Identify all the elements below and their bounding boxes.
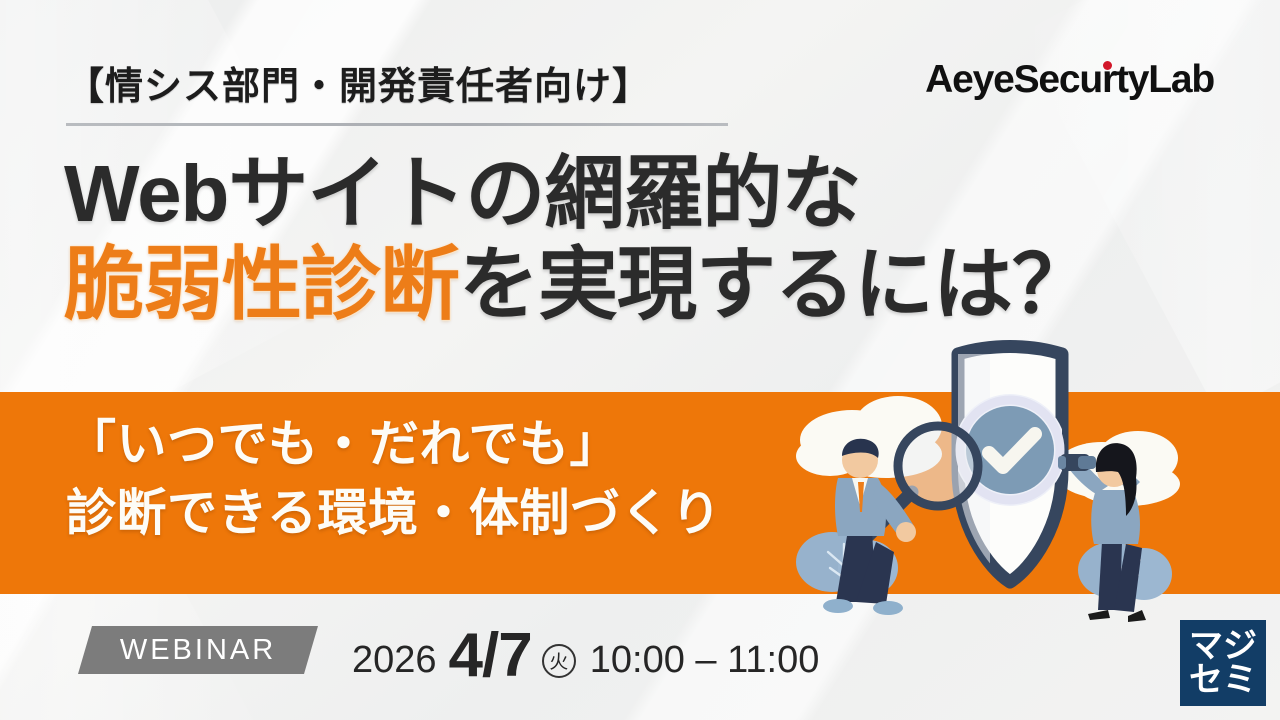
- event-year: 2026: [352, 639, 437, 682]
- aeye-security-lab-logo: AeyeSecurtyLab: [925, 58, 1214, 102]
- webinar-label: WEBINAR: [120, 634, 276, 667]
- status-badge: WEBINAR: [78, 626, 318, 674]
- majisemi-line-1: マジ: [1189, 629, 1257, 663]
- event-datetime: 2026 4/7 火 10:00 – 11:00: [352, 616, 819, 687]
- footer-bar: WEBINAR 2026 4/7 火 10:00 – 11:00: [0, 594, 1280, 720]
- majisemi-logo: マジ セミ: [1180, 620, 1266, 706]
- subtitle-line-1: 「いつでも・だれでも」: [66, 415, 722, 474]
- headline-line-1: Webサイトの網羅的な: [64, 152, 1091, 237]
- page-title: Webサイトの網羅的な 脆弱性診断を実現するには？: [64, 152, 1091, 328]
- headline-rest-text: を実現するには？: [459, 240, 1091, 329]
- event-time: 10:00 – 11:00: [590, 639, 820, 682]
- logo-text-part3: Lab: [1148, 58, 1214, 101]
- event-day: 4/7: [449, 620, 532, 691]
- logo-red-dot-icon: [1103, 61, 1112, 70]
- headline-accent-text: 脆弱性診断: [64, 240, 459, 329]
- logo-text-part1: AeyeSecur: [925, 58, 1116, 101]
- webinar-banner: 【情シス部門・開発責任者向け】 AeyeSecurtyLab Webサイトの網羅…: [0, 0, 1280, 720]
- security-shield-illustration: [790, 330, 1230, 630]
- audience-eyebrow: 【情シス部門・開発責任者向け】: [66, 55, 651, 110]
- logo-text-part2: ty: [1116, 58, 1148, 101]
- subtitle-text-group: 「いつでも・だれでも」 診断できる環境・体制づくり: [66, 415, 722, 543]
- eyebrow-divider: [66, 123, 728, 126]
- majisemi-line-2: セミ: [1189, 663, 1257, 697]
- subtitle-line-2: 診断できる環境・体制づくり: [66, 484, 722, 543]
- event-day-of-week: 火: [542, 644, 576, 678]
- headline-line-2: 脆弱性診断を実現するには？: [64, 243, 1091, 328]
